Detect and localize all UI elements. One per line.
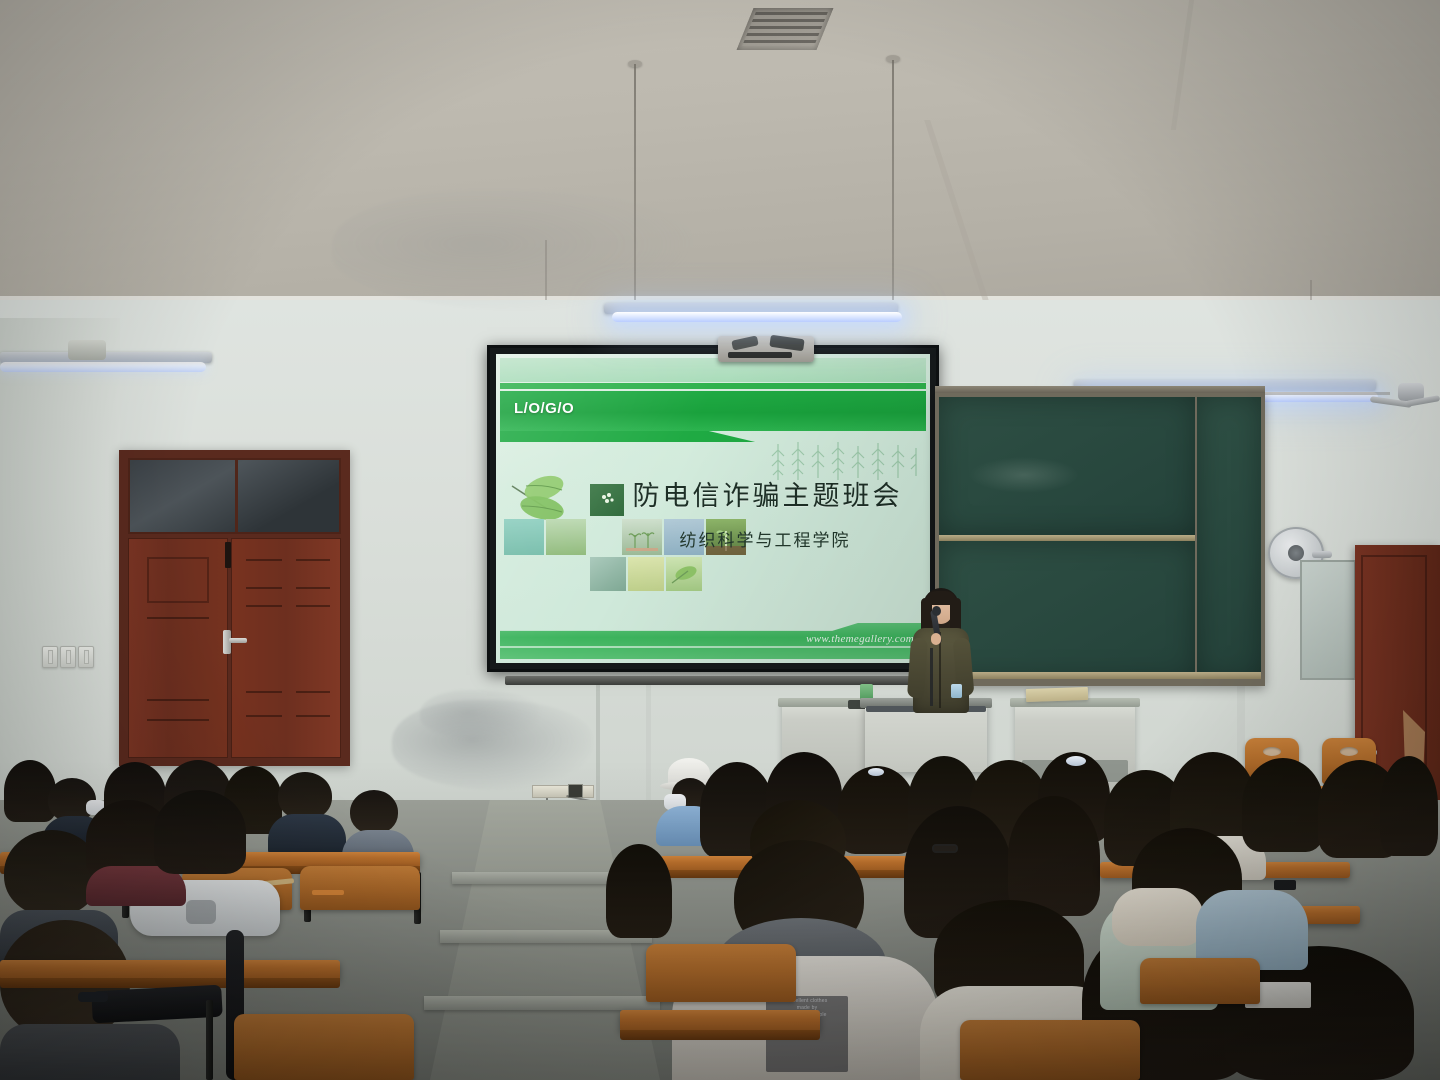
aisle-step bbox=[424, 996, 660, 1010]
ceiling-discoloration bbox=[332, 190, 692, 310]
blackboard-ledge-bottom bbox=[939, 672, 1261, 679]
door-groove bbox=[296, 605, 330, 607]
wall-fan-arm bbox=[1312, 551, 1332, 558]
person bbox=[1380, 756, 1440, 866]
door-groove bbox=[147, 719, 209, 721]
person bbox=[606, 844, 680, 954]
person-hair bbox=[606, 844, 672, 938]
person bbox=[150, 790, 260, 880]
chalk-smear bbox=[969, 457, 1079, 493]
door-groove bbox=[296, 587, 330, 589]
projection-screen: L/O/G/O bbox=[487, 345, 939, 672]
projector bbox=[718, 336, 814, 362]
left-double-door[interactable] bbox=[119, 450, 350, 766]
fluorescent-tube-left bbox=[0, 362, 206, 372]
person-hair bbox=[154, 790, 246, 874]
light-switch[interactable] bbox=[42, 646, 58, 668]
slide-footer-url: www.themegallery.com bbox=[806, 633, 914, 645]
person bbox=[268, 772, 344, 850]
door-groove bbox=[246, 587, 282, 589]
blackboard-ledge-mid bbox=[939, 535, 1195, 541]
mic-stand bbox=[930, 648, 933, 706]
presenter bbox=[905, 588, 975, 713]
presenter-hand bbox=[931, 633, 941, 645]
light-switch[interactable] bbox=[60, 646, 76, 668]
slide-surface: L/O/G/O bbox=[496, 354, 930, 663]
umbrella-handle bbox=[78, 992, 108, 1002]
door-groove bbox=[246, 715, 282, 717]
microphone-head bbox=[932, 606, 941, 616]
door-groove bbox=[246, 605, 282, 607]
slide-top-pale-band bbox=[500, 358, 926, 382]
mosaic-tile bbox=[628, 557, 664, 591]
mosaic-tile bbox=[590, 557, 626, 591]
door-groove bbox=[296, 715, 330, 717]
door-leaf-right[interactable] bbox=[231, 538, 341, 758]
person-head bbox=[350, 790, 398, 834]
door-groove bbox=[147, 699, 209, 701]
chair[interactable] bbox=[300, 866, 420, 910]
door-leaf-left[interactable] bbox=[128, 538, 228, 758]
left-wall bbox=[0, 318, 120, 818]
classroom-scene: L/O/G/O bbox=[0, 0, 1440, 1080]
wall-water-stain bbox=[420, 690, 540, 740]
slide-footer-line bbox=[500, 646, 926, 648]
door-handle-lever[interactable] bbox=[229, 638, 247, 643]
blackboard-panel-right bbox=[1197, 397, 1261, 679]
desk-leg bbox=[206, 1000, 213, 1080]
hair-tie bbox=[868, 768, 884, 776]
jacket-fold-shadow bbox=[186, 900, 216, 924]
door-panel bbox=[147, 557, 209, 603]
door-groove bbox=[246, 691, 282, 693]
wall-speaker bbox=[68, 340, 106, 360]
door-lock-plate bbox=[225, 542, 231, 568]
projector-bracket bbox=[731, 335, 759, 350]
desk bbox=[0, 960, 340, 980]
sweater-hood bbox=[1112, 888, 1204, 946]
slide-accent-bar bbox=[500, 383, 926, 389]
slide-header-notch bbox=[500, 431, 790, 442]
projector-lens-strip bbox=[728, 352, 792, 358]
door-groove bbox=[246, 559, 282, 561]
desk bbox=[620, 1010, 820, 1032]
wall-fan-hub bbox=[1288, 545, 1304, 561]
blackboard-top-rail bbox=[935, 386, 1265, 393]
chair[interactable] bbox=[234, 1014, 414, 1080]
person-hair bbox=[1380, 756, 1438, 856]
door-groove bbox=[296, 691, 330, 693]
blackboard-panel-top bbox=[939, 397, 1195, 535]
desk-edge bbox=[620, 1030, 820, 1040]
hair-tie bbox=[1066, 756, 1086, 766]
ceiling bbox=[0, 0, 1440, 330]
door-groove bbox=[147, 617, 209, 619]
chair-handle-hole bbox=[1340, 747, 1358, 756]
mosaic-tile bbox=[666, 557, 702, 591]
person-torso bbox=[268, 814, 346, 856]
pen[interactable] bbox=[312, 890, 344, 895]
chair[interactable] bbox=[960, 1020, 1140, 1080]
door-transom-window bbox=[128, 458, 341, 534]
light-switch[interactable] bbox=[78, 646, 94, 668]
slide-subtitle: 纺织科学与工程学院 bbox=[496, 526, 924, 551]
slide-title: 防电信诈骗主题班会 bbox=[496, 474, 924, 513]
slide-logo: L/O/G/O bbox=[514, 400, 574, 417]
chair[interactable] bbox=[1140, 958, 1260, 1004]
presenter-held-item bbox=[951, 684, 962, 698]
person-hair bbox=[1008, 796, 1100, 916]
chair[interactable] bbox=[646, 944, 796, 1002]
paper-stack[interactable] bbox=[1026, 687, 1088, 702]
person-head bbox=[278, 772, 332, 820]
person-torso bbox=[0, 1024, 180, 1080]
person bbox=[1196, 856, 1312, 966]
blackboard-panel-bottom bbox=[939, 541, 1195, 679]
fluorescent-tube-center bbox=[612, 312, 902, 322]
ceiling-hang-rod bbox=[892, 60, 894, 310]
door-groove bbox=[296, 559, 330, 561]
umbrella[interactable] bbox=[91, 985, 222, 1024]
right-window bbox=[1300, 560, 1356, 680]
person bbox=[342, 790, 414, 854]
blackboard bbox=[935, 393, 1265, 686]
projector-cable bbox=[769, 335, 804, 352]
ceiling-vent bbox=[737, 8, 834, 50]
wall-outlet[interactable] bbox=[532, 785, 594, 798]
